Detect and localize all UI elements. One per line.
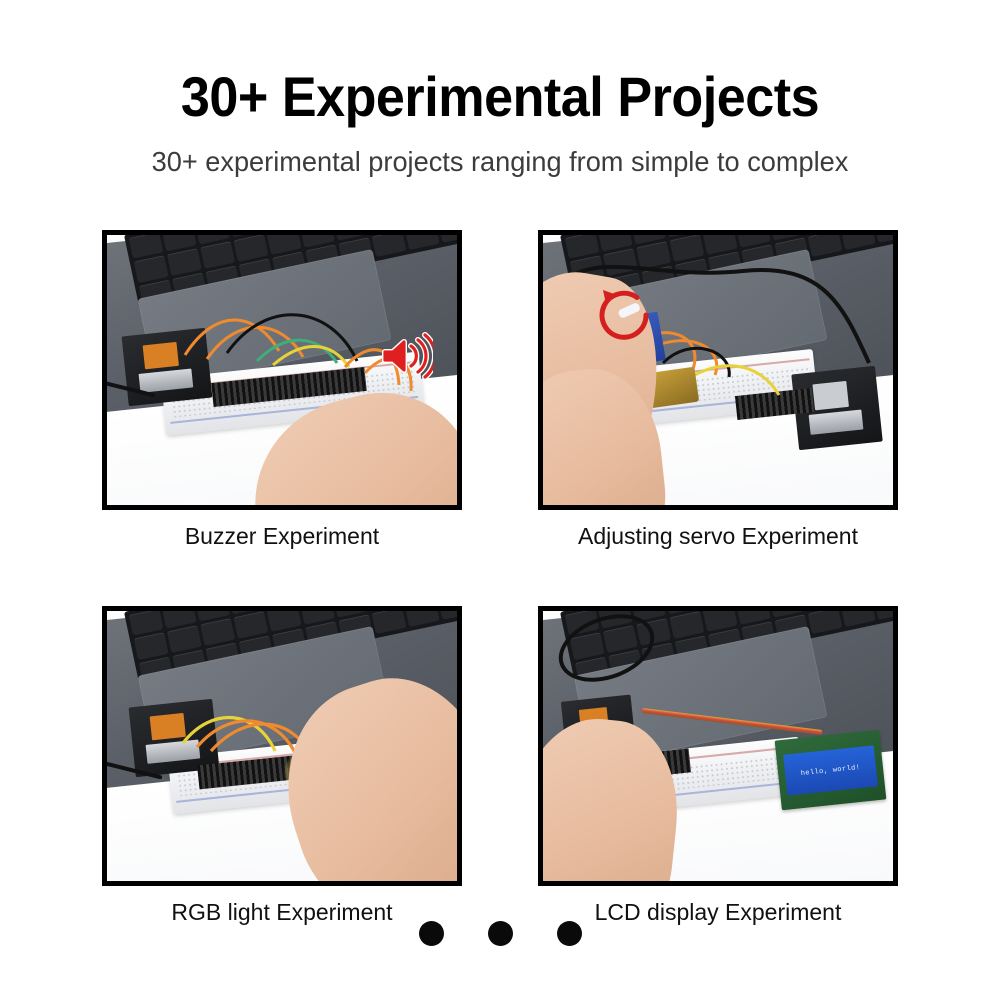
project-photo-rgb-light — [102, 606, 462, 886]
photo-scene — [107, 235, 457, 505]
project-card-rgb-light[interactable]: RGB light Experiment — [102, 606, 462, 925]
project-card-lcd-display[interactable]: hello, world! LCD display Experiment — [538, 606, 898, 925]
photo-scene — [107, 611, 457, 881]
pagination-dot-3[interactable] — [557, 921, 582, 946]
rotation-arrow-icon — [592, 284, 658, 346]
project-card-servo[interactable]: Adjusting servo Experiment — [538, 230, 898, 549]
page-subtitle: 30+ experimental projects ranging from s… — [15, 145, 985, 179]
pagination-dots[interactable] — [0, 921, 1000, 946]
pagination-dot-2[interactable] — [488, 921, 513, 946]
pagination-dot-1[interactable] — [419, 921, 444, 946]
photo-scene: hello, world! — [543, 611, 893, 881]
speaker-sound-icon — [379, 332, 433, 380]
project-photo-servo — [538, 230, 898, 510]
card-caption: Adjusting servo Experiment — [538, 524, 898, 549]
card-row-top: Buzzer Experiment — [0, 230, 1000, 549]
photo-scene — [543, 235, 893, 505]
card-caption: Buzzer Experiment — [102, 524, 462, 549]
page-header: 30+ Experimental Projects 30+ experiment… — [0, 0, 1000, 178]
lcd-screen: hello, world! — [783, 746, 877, 796]
lcd-text: hello, world! — [800, 764, 860, 778]
page-title: 30+ Experimental Projects — [35, 68, 965, 127]
project-photo-lcd-display: hello, world! — [538, 606, 898, 886]
project-card-buzzer[interactable]: Buzzer Experiment — [102, 230, 462, 549]
project-photo-buzzer — [102, 230, 462, 510]
card-row-bottom: RGB light Experiment — [0, 606, 1000, 925]
lcd1602-module-icon: hello, world! — [774, 730, 886, 811]
project-card-grid: Buzzer Experiment — [0, 230, 1000, 926]
